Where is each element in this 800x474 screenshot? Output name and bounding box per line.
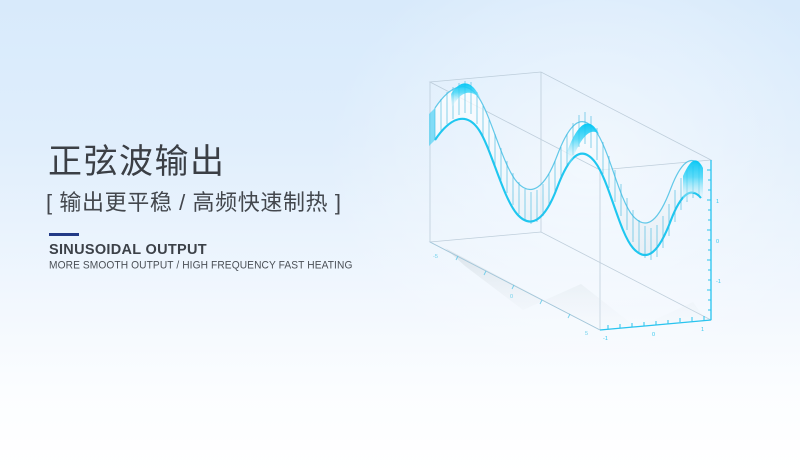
left-end-cap [429, 108, 435, 146]
chart-svg: 1 0 -1 -1 0 [405, 70, 755, 390]
surface-body [435, 87, 701, 255]
text-block: 正弦波输出 [ 输出更平稳 / 高频快速制热 ] SINUSOIDAL OUTP… [48, 143, 428, 271]
vertical-axis-tick-minus1: -1 [716, 279, 721, 285]
depth-axis-tick-0: 0 [510, 294, 513, 300]
page-title: 正弦波输出 [48, 143, 428, 182]
vertical-axis-tick-1: 1 [716, 199, 719, 205]
depth-axis-tick-minus5: -5 [433, 254, 438, 260]
bottom-axis-tick-minus1: -1 [603, 336, 608, 342]
sinusoidal-output-banner: 正弦波输出 [ 输出更平稳 / 高频快速制热 ] SINUSOIDAL OUTP… [0, 0, 800, 474]
bottom-axis-tick-0: 0 [652, 332, 655, 338]
vertical-axis-tick-0: 0 [716, 239, 719, 245]
depth-axis-tick-5: 5 [585, 331, 588, 337]
title-divider [49, 233, 79, 236]
vertical-axis: 1 0 -1 [707, 160, 721, 320]
sine-surface [429, 81, 703, 260]
sine-wave-3d-chart: 1 0 -1 -1 0 [405, 70, 755, 390]
bottom-axis-tick-1: 1 [701, 327, 704, 333]
english-description: MORE SMOOTH OUTPUT / HIGH FREQUENCY FAST… [49, 260, 428, 272]
page-subtitle: [ 输出更平稳 / 高频快速制热 ] [46, 190, 428, 216]
english-title: SINUSOIDAL OUTPUT [49, 242, 428, 258]
wave-floor-shadow [445, 248, 705, 330]
